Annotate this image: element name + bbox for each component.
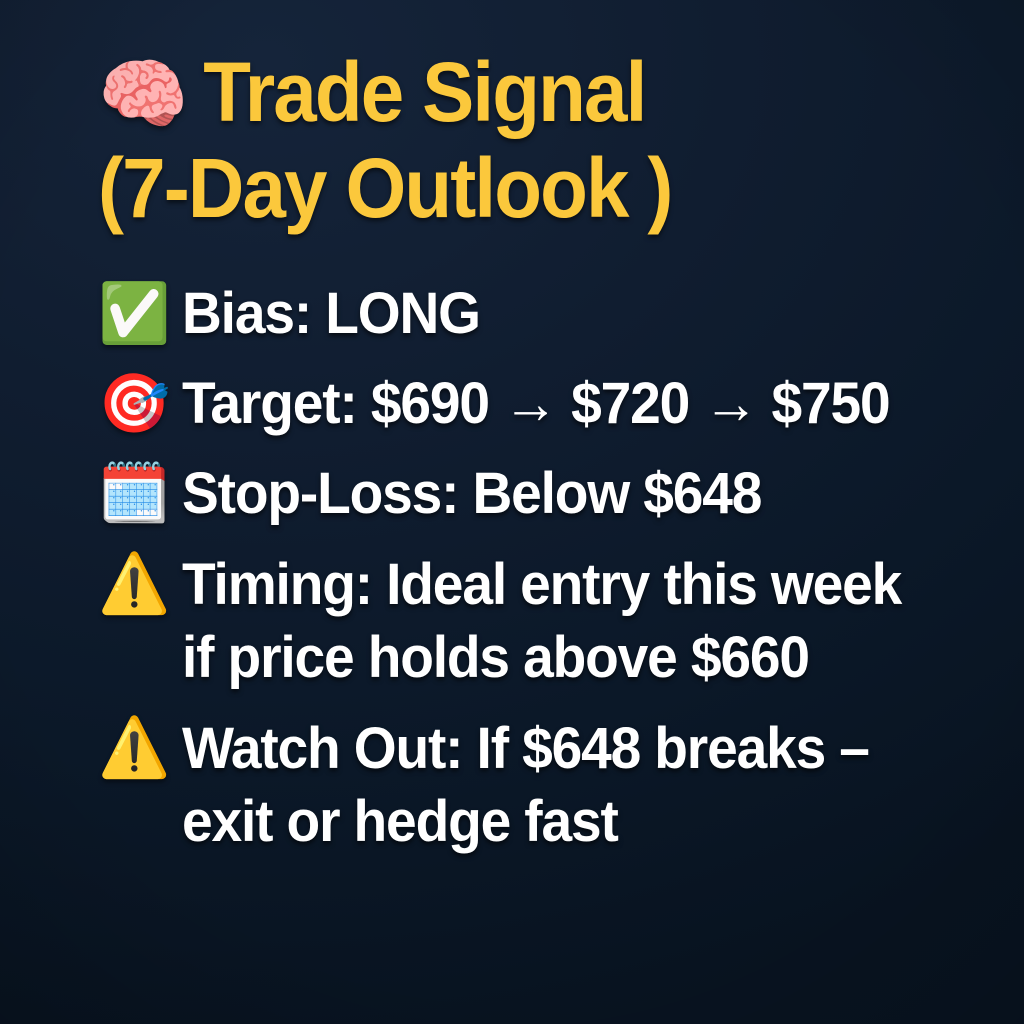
page-title: 🧠 Trade Signal (7-Day Outlook )	[98, 44, 998, 236]
list-item-timing: ⚠️ Timing: Ideal entry this week if pric…	[98, 548, 1014, 694]
calendar-icon: 🗓️	[98, 458, 182, 530]
list-item-label: Bias: LONG	[182, 278, 972, 350]
list-item-target: 🎯 Target: $690 → $720 → $750	[98, 368, 1014, 440]
signal-list: ✅ Bias: LONG 🎯 Target: $690 → $720 → $75…	[98, 278, 1014, 876]
title-text-primary: Trade Signal	[203, 44, 645, 140]
title-line-2: (7-Day Outlook )	[98, 140, 935, 236]
list-item-watch-out: ⚠️ Watch Out: If $648 breaks – exit or h…	[98, 712, 1014, 858]
target-icon: 🎯	[98, 368, 182, 440]
title-text-secondary: (7-Day Outlook )	[98, 140, 672, 236]
title-line-1: 🧠 Trade Signal	[98, 44, 935, 140]
list-item-label: Timing: Ideal entry this week if price h…	[182, 548, 972, 694]
list-item-stop-loss: 🗓️ Stop-Loss: Below $648	[98, 458, 1014, 530]
check-mark-icon: ✅	[98, 278, 182, 350]
brain-icon: 🧠	[98, 55, 186, 133]
list-item-label: Target: $690 → $720 → $750	[182, 368, 972, 440]
warning-icon: ⚠️	[98, 548, 182, 620]
trade-signal-card: 🧠 Trade Signal (7-Day Outlook ) ✅ Bias: …	[0, 0, 1024, 1024]
warning-icon: ⚠️	[98, 712, 182, 784]
list-item-label: Stop-Loss: Below $648	[182, 458, 972, 530]
list-item-label: Watch Out: If $648 breaks – exit or hedg…	[182, 712, 972, 858]
list-item-bias: ✅ Bias: LONG	[98, 278, 1014, 350]
